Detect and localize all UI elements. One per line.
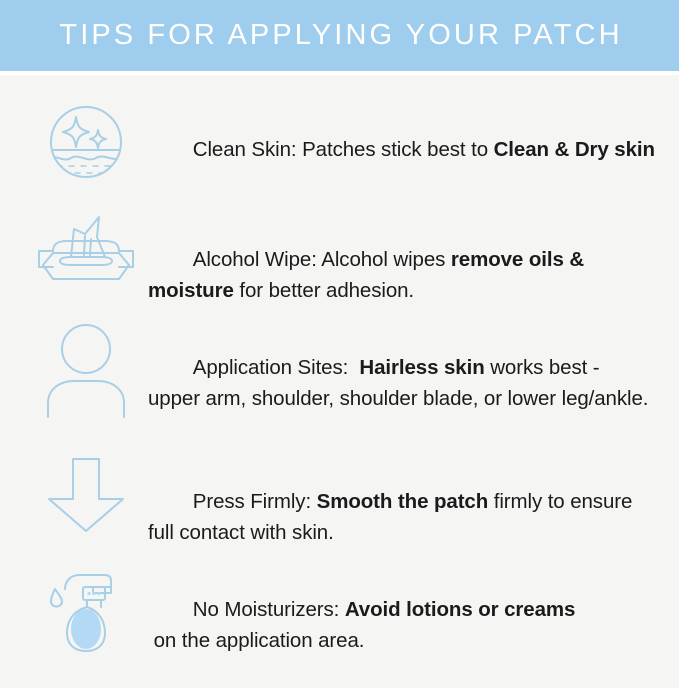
person-icon: [24, 319, 148, 417]
tip-text-bold: Smooth the patch: [317, 490, 489, 513]
tip-text-regular: Alcohol Wipe: Alcohol wipes: [193, 248, 451, 271]
tip-text: No Moisturizers: Avoid lotions or creams…: [148, 561, 655, 688]
tip-row: Application Sites: Hairless skin works b…: [24, 319, 655, 439]
infographic-card: TIPS FOR APPLYING YOUR PATCH: [0, 0, 679, 679]
tip-text-regular-2: for better adhesion.: [234, 279, 414, 302]
down-arrow-icon: [24, 453, 148, 535]
tip-text: Application Sites: Hairless skin works b…: [148, 319, 655, 446]
page-title: TIPS FOR APPLYING YOUR PATCH: [56, 21, 622, 50]
lotion-pump-bottle-icon: [24, 561, 148, 653]
tip-text-regular: Clean Skin: Patches stick best to: [193, 138, 494, 161]
tip-text-bold: Avoid lotions or creams: [345, 598, 575, 621]
header-banner: TIPS FOR APPLYING YOUR PATCH: [0, 0, 679, 71]
tip-row: Clean Skin: Patches stick best to Clean …: [24, 101, 655, 201]
tip-text-regular-2: on the application area.: [148, 629, 364, 652]
tip-text: Clean Skin: Patches stick best to Clean …: [148, 101, 655, 196]
clean-skin-sparkle-icon: [24, 101, 148, 181]
tip-text-bold: Hairless skin: [359, 356, 484, 379]
wipes-pack-icon: [24, 211, 148, 287]
tip-row: No Moisturizers: Avoid lotions or creams…: [24, 561, 655, 661]
tip-row: Alcohol Wipe: Alcohol wipes remove oils …: [24, 211, 655, 311]
tip-row: Press Firmly: Smooth the patch firmly to…: [24, 453, 655, 549]
tips-list: Clean Skin: Patches stick best to Clean …: [0, 75, 679, 679]
tip-text-bold: Clean & Dry skin: [494, 138, 655, 161]
tip-text-regular: Press Firmly:: [193, 490, 317, 513]
tip-text-regular: Application Sites:: [193, 356, 360, 379]
tip-text-regular: No Moisturizers:: [193, 598, 345, 621]
